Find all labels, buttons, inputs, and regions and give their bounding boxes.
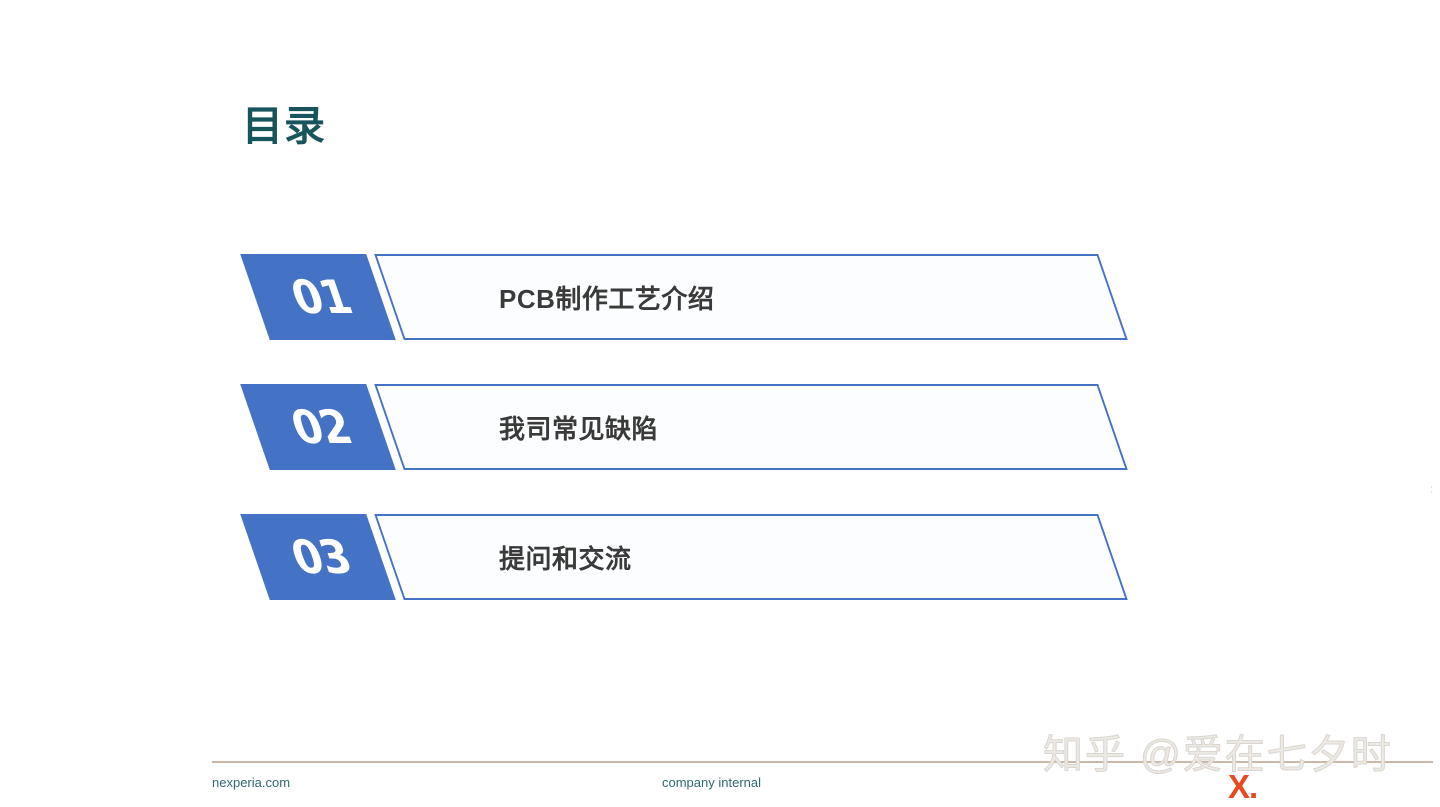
brand-logo-mark: X. — [1228, 768, 1257, 806]
clipped-edge-artifact: : — [1430, 484, 1436, 506]
footer-website-label: nexperia.com — [212, 775, 290, 790]
agenda-item-01[interactable]: 01 PCB制作工艺介绍 — [0, 254, 1440, 340]
slide-canvas: 目录 01 PCB制作工艺介绍 02 我司常见缺陷 03 提问和交流 nexpe… — [0, 0, 1440, 807]
footer-confidentiality-label: company internal — [662, 775, 761, 790]
agenda-item-label-03: 提问和交流 — [389, 514, 1113, 600]
agenda-number-label-03: 03 — [240, 514, 396, 600]
footer-divider — [212, 761, 1433, 763]
agenda-number-label-01: 01 — [240, 254, 396, 340]
page-title: 目录 — [242, 104, 326, 149]
agenda-item-label-01: PCB制作工艺介绍 — [389, 254, 1113, 340]
agenda-item-label-02: 我司常见缺陷 — [389, 384, 1113, 470]
agenda-number-label-02: 02 — [240, 384, 396, 470]
zhihu-watermark: 知乎 @爱在七夕时 — [1043, 722, 1393, 780]
agenda-item-02[interactable]: 02 我司常见缺陷 — [0, 384, 1440, 470]
agenda-item-03[interactable]: 03 提问和交流 — [0, 514, 1440, 600]
